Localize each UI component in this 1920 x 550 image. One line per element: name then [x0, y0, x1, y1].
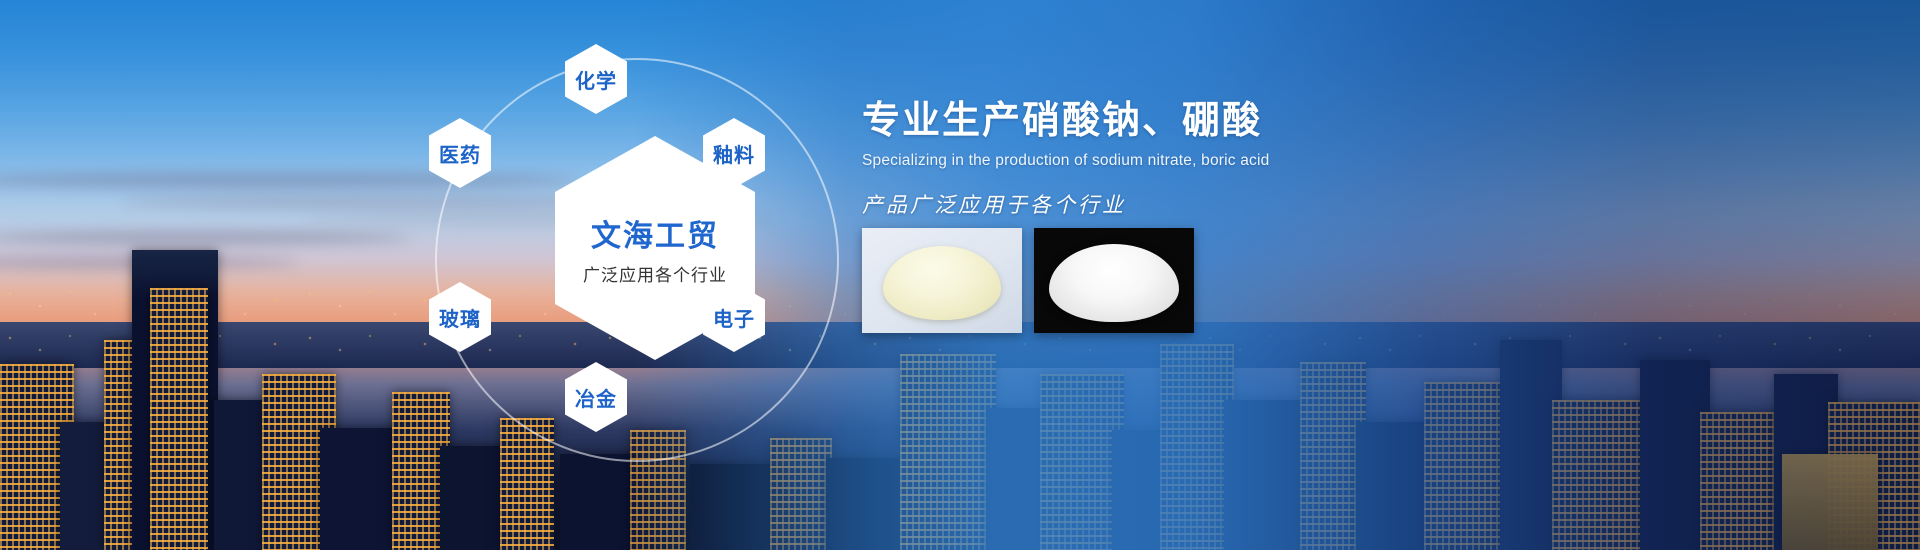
hex-node-label: 冶金	[575, 383, 617, 412]
company-tagline: 广泛应用各个行业	[583, 261, 727, 286]
product-photo-strip	[862, 228, 1194, 333]
product-photo-sodium-nitrate[interactable]	[862, 228, 1022, 333]
powder-grain-texture	[883, 246, 1001, 320]
hero-banner: 文海工贸 广泛应用各个行业 化学 釉料 电子 冶金 玻璃 医药 专业生产硝酸钠、…	[0, 0, 1920, 550]
hex-node-label: 化学	[575, 65, 617, 94]
hex-node-label: 釉料	[713, 139, 755, 168]
powder-pile	[1049, 244, 1179, 322]
powder-grain-texture	[1049, 244, 1179, 322]
powder-pile	[883, 246, 1001, 320]
hex-node-label: 电子	[713, 303, 755, 332]
tagline-chinese: 产品广泛应用于各个行业	[862, 189, 1482, 219]
company-name: 文海工贸	[591, 211, 719, 255]
banner-copy: 专业生产硝酸钠、硼酸 Specializing in the productio…	[862, 100, 1482, 219]
hex-node-label: 医药	[439, 139, 481, 168]
hex-node-label: 玻璃	[439, 303, 481, 332]
industry-hex-diagram: 文海工贸 广泛应用各个行业 化学 釉料 电子 冶金 玻璃 医药	[425, 30, 885, 490]
headline-chinese: 专业生产硝酸钠、硼酸	[862, 100, 1482, 143]
product-photo-boric-acid[interactable]	[1034, 228, 1194, 333]
headline-english: Specializing in the production of sodium…	[862, 152, 1482, 170]
